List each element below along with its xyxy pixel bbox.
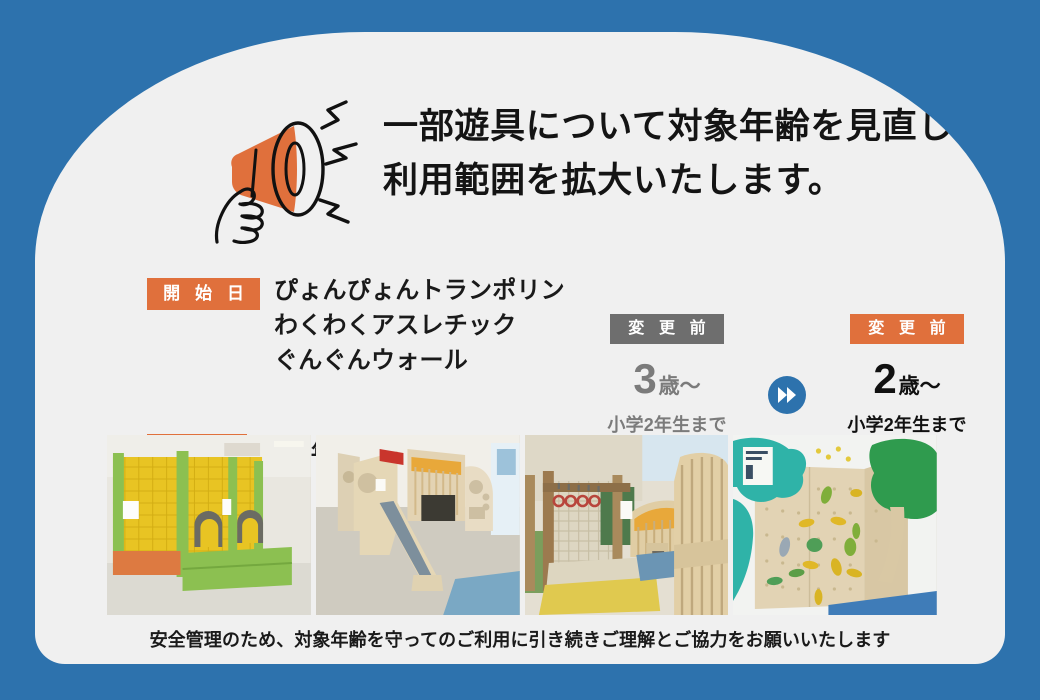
info-row-games: 開 始 日 ぴょんぴょんトランポリン わくわくアスレチック ぐんぐんウォール [147, 278, 577, 378]
games-list: ぴょんぴょんトランポリン わくわくアスレチック ぐんぐんウォール [274, 273, 565, 378]
arrow-wrapper [747, 314, 827, 414]
age-note-before: 小学2年生まで [587, 411, 747, 437]
card-header: 一部遊具について対象年齢を見直し 利用範囲を拡大いたします。 [35, 82, 1005, 262]
fast-forward-icon [768, 376, 806, 414]
photo-wooden-slide [316, 435, 520, 615]
age-column-before: 変 更 前 3歳〜 小学2年生まで [587, 314, 747, 437]
age-value-after: 2歳〜 [827, 358, 987, 400]
announcement-card: 一部遊具について対象年齢を見直し 利用範囲を拡大いたします。 開 始 日 ぴょん… [35, 32, 1005, 664]
badge-after: 変 更 前 [850, 314, 964, 344]
age-note-after: 小学2年生まで [827, 411, 987, 437]
tag-start-date: 開 始 日 [147, 278, 260, 310]
age-number-before: 3 [633, 355, 656, 402]
age-number-after: 2 [873, 355, 896, 402]
age-comparison: 変 更 前 3歳〜 小学2年生まで 変 更 前 2歳〜 小学2年生まで [587, 314, 987, 437]
footer-note: 安全管理のため、対象年齢を守ってのご利用に引き続きご理解とご協力をお願いいたしま… [35, 626, 1005, 652]
photo-strip [107, 435, 937, 615]
age-unit-before: 歳〜 [659, 375, 701, 398]
age-column-after: 変 更 前 2歳〜 小学2年生まで [827, 314, 987, 437]
megaphone-icon [170, 92, 360, 257]
photo-wooden-athletic [525, 435, 729, 615]
photo-trampoline-net-structure [107, 435, 311, 615]
age-unit-after: 歳〜 [899, 375, 941, 398]
page-title: 一部遊具について対象年齢を見直し 利用範囲を拡大いたします。 [383, 100, 953, 209]
badge-before: 変 更 前 [610, 314, 724, 344]
age-value-before: 3歳〜 [587, 358, 747, 400]
photo-climbing-wall [733, 435, 937, 615]
